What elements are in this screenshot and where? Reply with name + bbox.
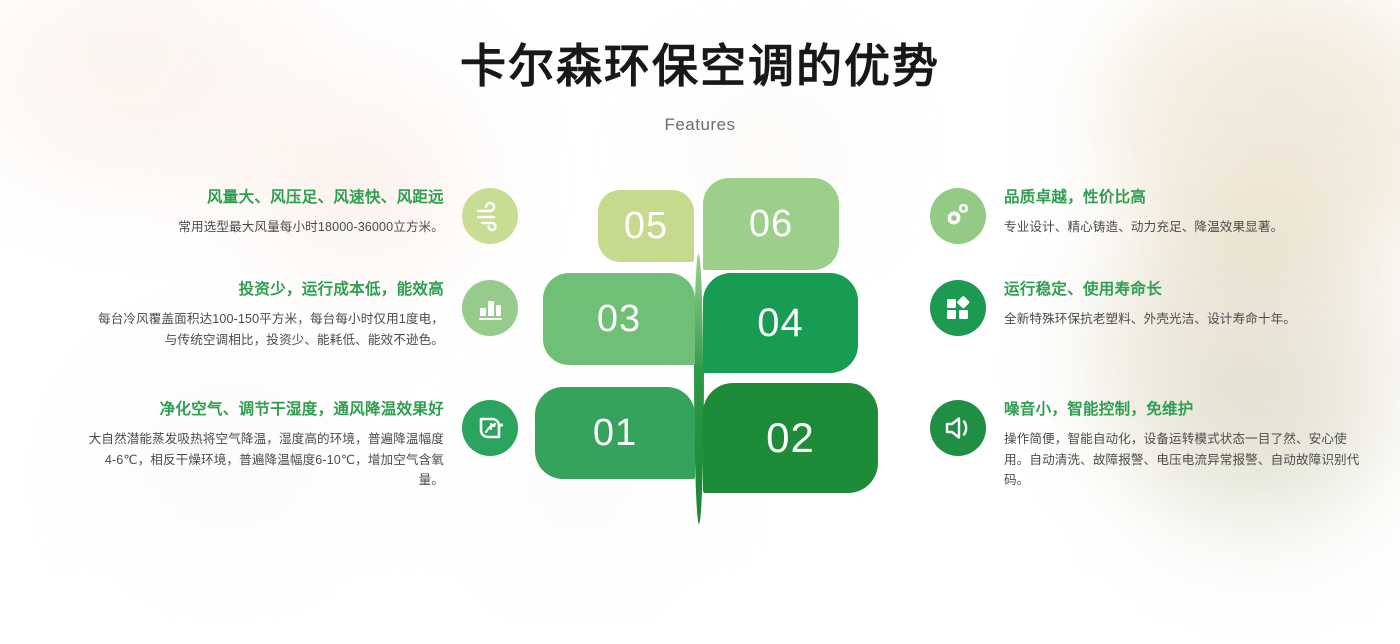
leaf-icon: [462, 400, 518, 456]
page-title: 卡尔森环保空调的优势: [0, 40, 1400, 93]
leaf-badge-04[interactable]: 04: [703, 273, 858, 373]
leaf-number-01: 01: [593, 414, 637, 452]
feature-title-03: 投资少，运行成本低，能效高: [88, 280, 444, 300]
feature-block-05: 风量大、风压足、风速快、风距远 常用选型最大风量每小时18000-36000立方…: [88, 188, 518, 244]
feature-title-04: 运行稳定、使用寿命长: [1004, 280, 1360, 300]
feature-title-01: 净化空气、调节干湿度，通风降温效果好: [88, 400, 444, 420]
feature-text-05: 风量大、风压足、风速快、风距远 常用选型最大风量每小时18000-36000立方…: [88, 188, 444, 238]
feature-block-03: 投资少，运行成本低，能效高 每台冷风覆盖面积达100-150平方米，每台每小时仅…: [88, 280, 518, 350]
feature-block-06: 品质卓越，性价比高 专业设计、精心铸造、动力充足、降温效果显著。: [930, 188, 1360, 244]
leaf-number-04: 04: [757, 303, 804, 343]
feature-text-06: 品质卓越，性价比高 专业设计、精心铸造、动力充足、降温效果显著。: [1004, 188, 1360, 238]
feature-desc-02: 操作简便，智能自动化，设备运转模式状态一目了然、安心使用。自动清洗、故障报警、电…: [1004, 429, 1360, 490]
page-subtitle: Features: [0, 115, 1400, 135]
feature-title-05: 风量大、风压足、风速快、风距远: [88, 188, 444, 208]
feature-desc-06: 专业设计、精心铸造、动力充足、降温效果显著。: [1004, 217, 1360, 237]
feature-desc-04: 全新特殊环保抗老塑料、外壳光洁、设计寿命十年。: [1004, 309, 1360, 329]
feature-block-01: 净化空气、调节干湿度，通风降温效果好 大自然潜能蒸发吸热将空气降温，湿度高的环境…: [88, 400, 518, 490]
page-header: 卡尔森环保空调的优势 Features: [0, 0, 1400, 135]
leaf-number-cluster: 05 06 03 04 01 02: [530, 168, 875, 568]
leaf-badge-02[interactable]: 02: [703, 383, 878, 493]
feature-title-02: 噪音小，智能控制，免维护: [1004, 400, 1360, 420]
leaf-number-02: 02: [766, 417, 815, 459]
gears-icon: [930, 188, 986, 244]
feature-text-03: 投资少，运行成本低，能效高 每台冷风覆盖面积达100-150平方米，每台每小时仅…: [88, 280, 444, 350]
feature-block-04: 运行稳定、使用寿命长 全新特殊环保抗老塑料、外壳光洁、设计寿命十年。: [930, 280, 1360, 336]
wind-icon: [462, 188, 518, 244]
blocks-icon: [930, 280, 986, 336]
feature-text-02: 噪音小，智能控制，免维护 操作简便，智能自动化，设备运转模式状态一目了然、安心使…: [1004, 400, 1360, 490]
leaf-badge-01[interactable]: 01: [535, 387, 695, 479]
leaf-badge-05[interactable]: 05: [598, 190, 694, 262]
leaf-number-06: 06: [749, 205, 793, 243]
feature-desc-01: 大自然潜能蒸发吸热将空气降温，湿度高的环境，普遍降温幅度4-6℃，相反干燥环境，…: [88, 429, 444, 490]
feature-desc-05: 常用选型最大风量每小时18000-36000立方米。: [88, 217, 444, 237]
leaf-stem-upper: [694, 254, 703, 374]
leaf-badge-06[interactable]: 06: [703, 178, 839, 270]
feature-text-04: 运行稳定、使用寿命长 全新特殊环保抗老塑料、外壳光洁、设计寿命十年。: [1004, 280, 1360, 330]
leaf-badge-03[interactable]: 03: [543, 273, 695, 365]
feature-title-06: 品质卓越，性价比高: [1004, 188, 1360, 208]
speaker-icon: [930, 400, 986, 456]
leaf-number-05: 05: [624, 207, 668, 245]
feature-desc-03: 每台冷风覆盖面积达100-150平方米，每台每小时仅用1度电，与传统空调相比，投…: [88, 309, 444, 350]
feature-block-02: 噪音小，智能控制，免维护 操作简便，智能自动化，设备运转模式状态一目了然、安心使…: [930, 400, 1360, 490]
bar-chart-icon: [462, 280, 518, 336]
feature-text-01: 净化空气、调节干湿度，通风降温效果好 大自然潜能蒸发吸热将空气降温，湿度高的环境…: [88, 400, 444, 490]
features-content: 风量大、风压足、风速快、风距远 常用选型最大风量每小时18000-36000立方…: [0, 168, 1400, 568]
leaf-number-03: 03: [597, 300, 641, 338]
